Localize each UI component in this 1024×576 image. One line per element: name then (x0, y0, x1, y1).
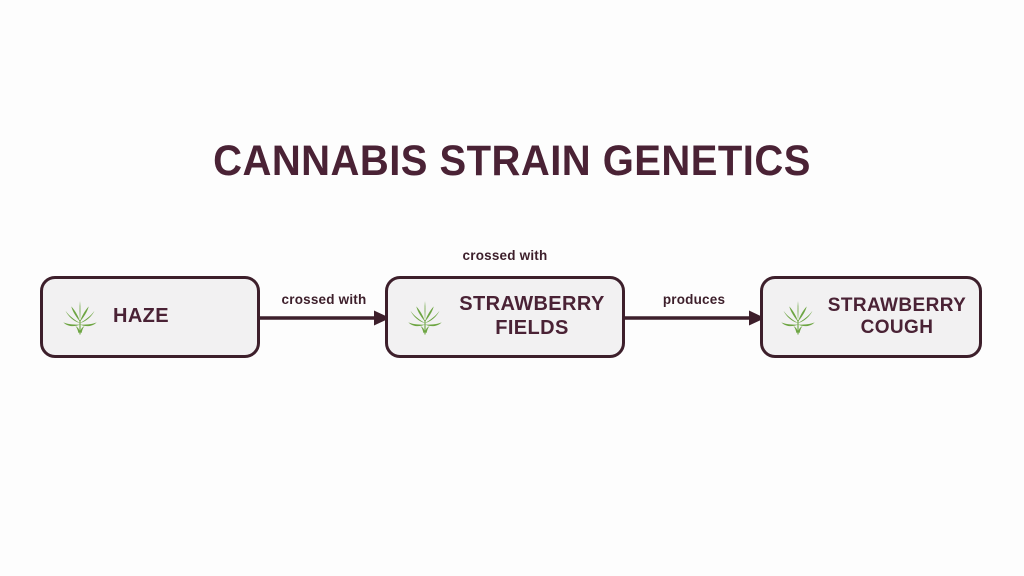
diagram-canvas: CANNABIS STRAIN GENETICS HAZE crossed wi… (0, 0, 1024, 576)
node-haze[interactable]: HAZE (40, 276, 260, 358)
node-strawberry-fields-label: STRAWBERRY FIELDS (450, 293, 614, 340)
node-strawberry-cough[interactable]: STRAWBERRY COUGH (760, 276, 982, 358)
cannabis-leaf-icon (406, 297, 444, 337)
node-haze-label: HAZE (113, 305, 169, 329)
node-strawberry-fields-top-label: crossed with (385, 248, 625, 263)
cannabis-leaf-icon (779, 297, 817, 337)
arrow-fields-to-cough (623, 303, 765, 333)
node-strawberry-cough-label: STRAWBERRY COUGH (821, 295, 973, 340)
node-strawberry-fields[interactable]: STRAWBERRY FIELDS (385, 276, 625, 358)
arrow-haze-to-fields (258, 303, 390, 333)
cannabis-leaf-icon (61, 297, 99, 337)
page-title: CANNABIS STRAIN GENETICS (36, 137, 988, 186)
